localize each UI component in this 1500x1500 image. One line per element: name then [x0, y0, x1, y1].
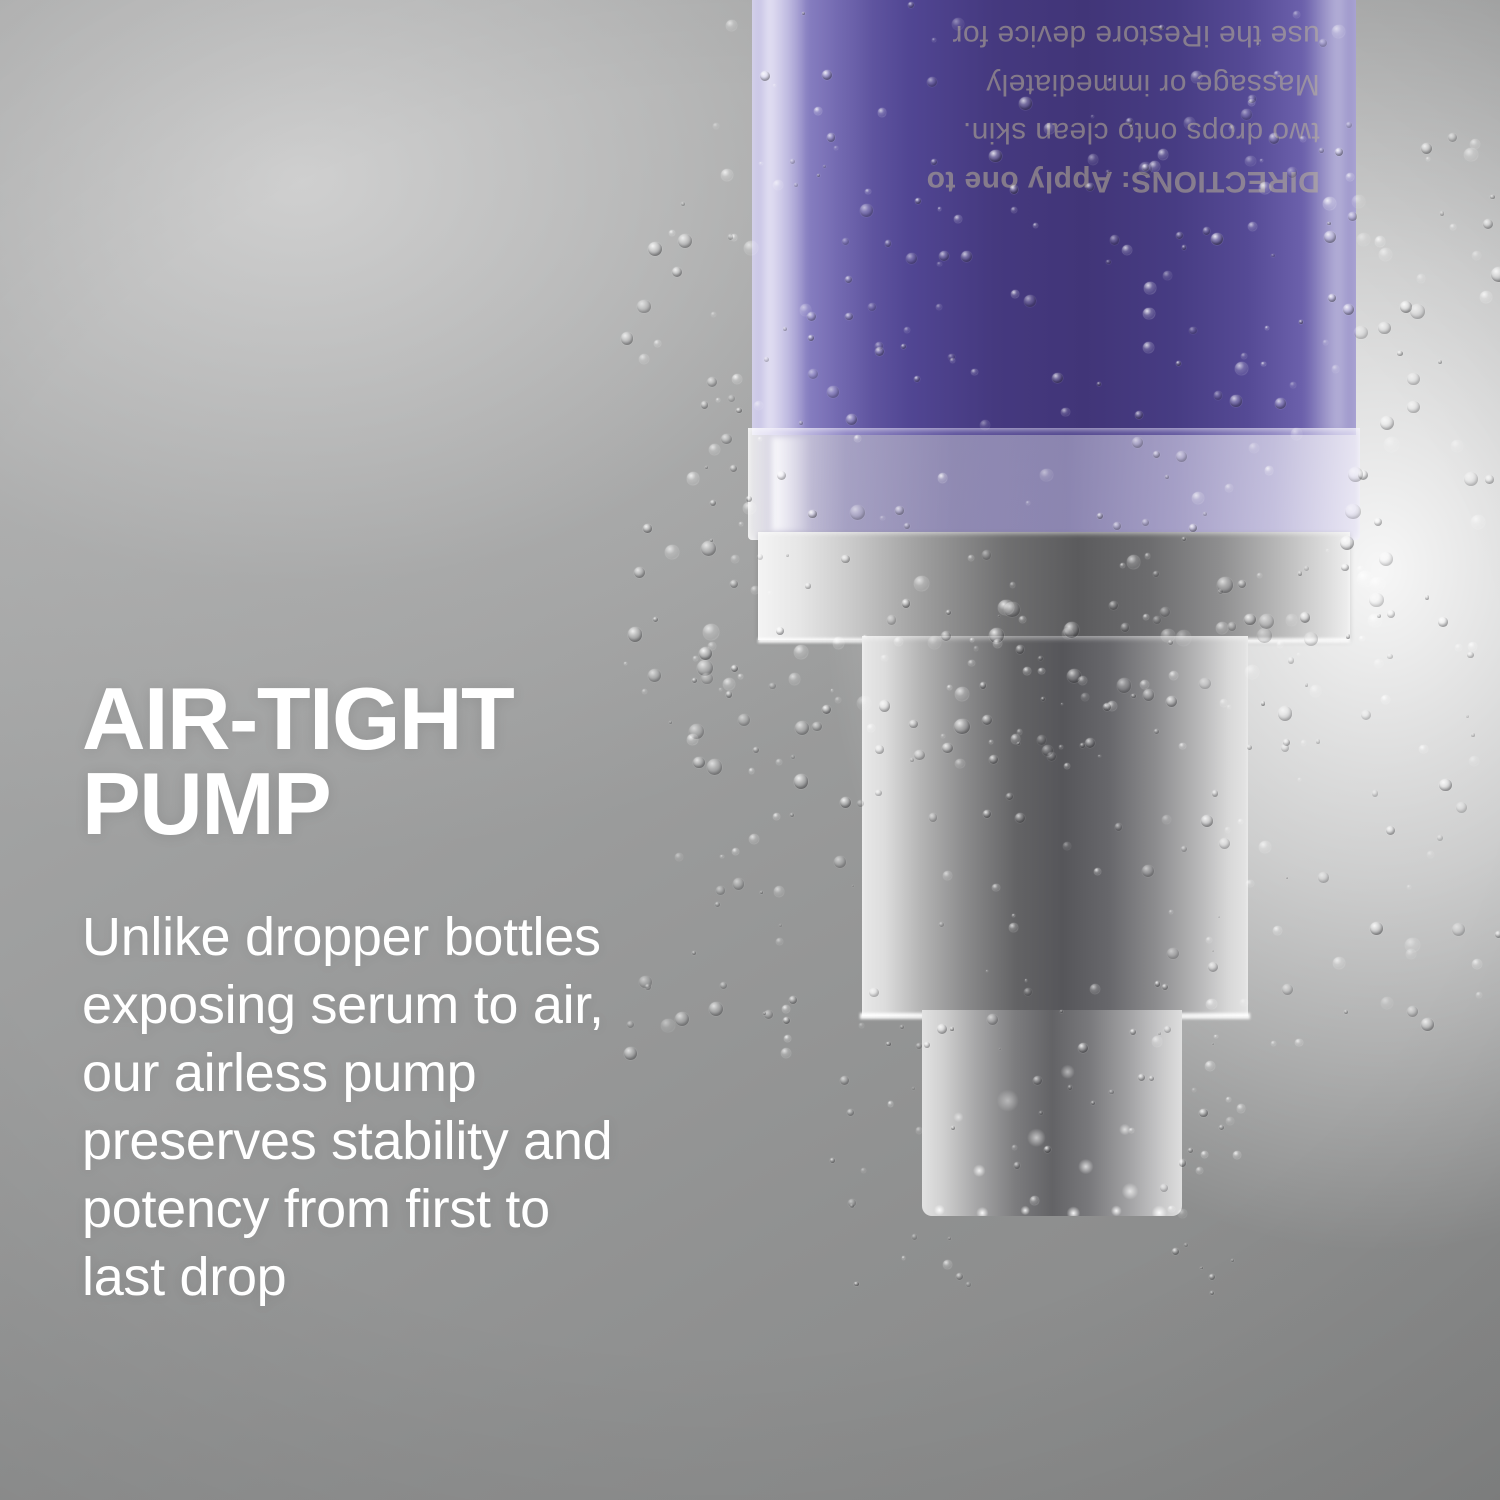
bottle-highlight-left [764, 0, 806, 435]
label-line-1: two drops onto clean skin. [776, 108, 1320, 157]
nozzle-droplet-rim [922, 1202, 1182, 1216]
bottle-label-text: DIRECTIONS: Apply one to two drops onto … [776, 0, 1320, 205]
label-line-0: DIRECTIONS: Apply one to [776, 156, 1320, 205]
collar-highlight [772, 437, 809, 531]
bottle-body: DIRECTIONS: Apply one to two drops onto … [752, 0, 1356, 435]
marketing-copy-block: AIR-TIGHT PUMP Unlike dropper bottles ex… [82, 676, 642, 1311]
pump-shoulder [758, 532, 1350, 640]
label-line-4: best results. [776, 0, 1320, 11]
pump-neck [862, 636, 1248, 1016]
bottle-collar-ring [748, 428, 1360, 540]
body-description: Unlike dropper bottles exposing serum to… [82, 903, 642, 1311]
bottle-label: DIRECTIONS: Apply one to two drops onto … [752, 0, 1356, 435]
pump-nozzle-tip [922, 1010, 1182, 1216]
label-line-3: use the iRestore device for [776, 11, 1320, 60]
product-hero-scene: DIRECTIONS: Apply one to two drops onto … [0, 0, 1500, 1500]
label-line-2: Massage or immediately [776, 59, 1320, 108]
nozzle-foam [922, 1010, 1182, 1216]
bottle-highlight-right [1308, 0, 1344, 435]
page-title: AIR-TIGHT PUMP [82, 676, 642, 847]
